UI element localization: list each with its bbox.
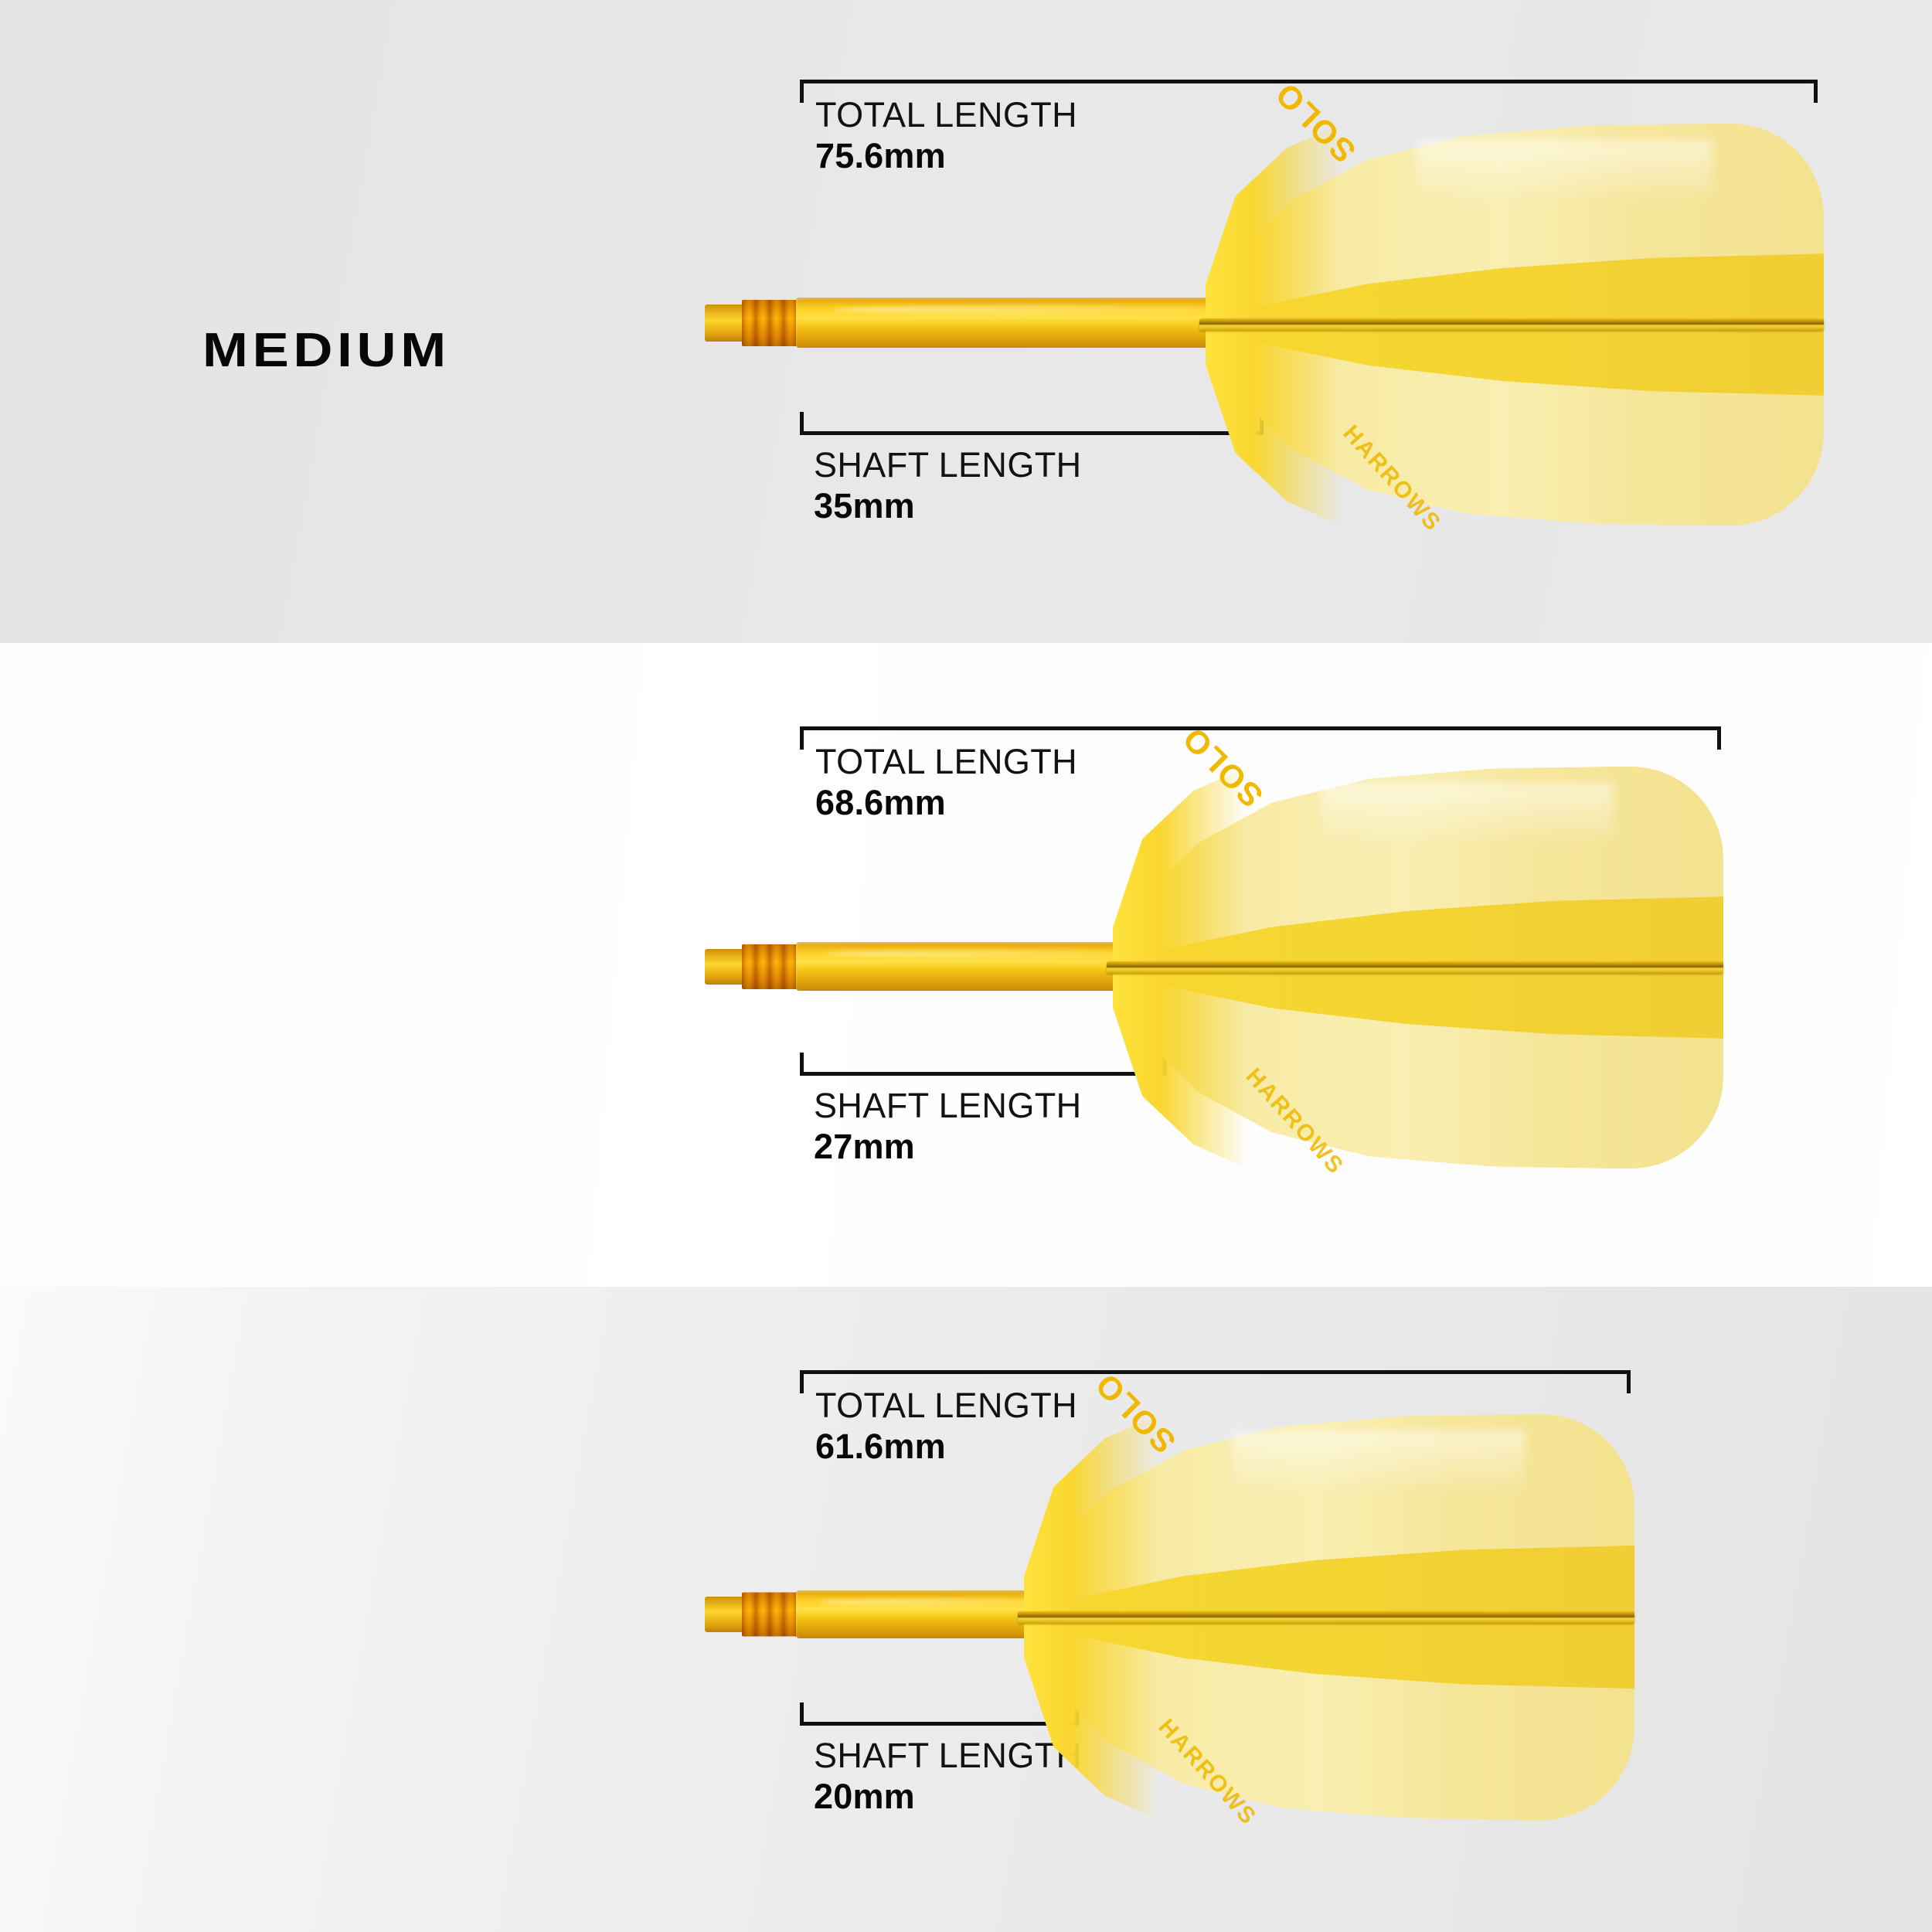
bracket-rule <box>800 80 1818 83</box>
flight-lower-lobe <box>1113 968 1723 1168</box>
bracket-tick-right <box>1814 80 1818 103</box>
bracket-tick-left <box>800 412 804 435</box>
flight-lower-lobe <box>1024 1617 1634 1821</box>
shaft-threaded-tip <box>742 1593 801 1637</box>
dart-flight-midi: SOLO HARROWS <box>1113 767 1723 1168</box>
total-length-text-midi: TOTAL LENGTH 68.6mm <box>815 743 1077 825</box>
variant-panel-midi: MIDI TOTAL LENGTH 68.6mm SHAFT LENGTH 27… <box>0 643 1932 1287</box>
bracket-tick-left <box>800 1702 804 1726</box>
variant-name-medium: MEDIUM <box>202 323 451 378</box>
total-length-value: 75.6mm <box>815 134 1077 179</box>
bracket-tick-right <box>1717 726 1721 750</box>
flight-upper-lobe <box>1206 124 1824 325</box>
dart-flight-short: SOLO HARROWS <box>1024 1414 1634 1820</box>
flight-upper-lobe <box>1113 767 1723 968</box>
flight-upper-lobe <box>1024 1414 1634 1617</box>
shaft-length-bracket-midi <box>800 1053 1166 1076</box>
shaft-end-nub <box>705 304 747 342</box>
bracket-tick-left <box>800 1053 804 1076</box>
shaft-length-caption: SHAFT LENGTH <box>814 447 1082 484</box>
bracket-tick-right <box>1627 1370 1631 1393</box>
bracket-rule <box>800 1370 1631 1374</box>
total-length-text-medium: TOTAL LENGTH 75.6mm <box>815 97 1077 179</box>
flight-center-seam <box>1199 318 1824 331</box>
comparison-sheet: MEDIUM TOTAL LENGTH 75.6mm SHAFT LENGTH … <box>0 0 1932 1932</box>
bracket-tick-left <box>800 1370 804 1393</box>
bracket-rule <box>800 726 1721 730</box>
total-length-caption: TOTAL LENGTH <box>815 743 1077 781</box>
shaft-threaded-tip <box>742 300 801 346</box>
flight-lower-lobe <box>1206 325 1824 526</box>
bracket-tick-left <box>800 726 804 750</box>
flight-center-seam <box>1018 1611 1634 1624</box>
bracket-rule <box>800 431 1264 435</box>
shaft-end-nub <box>705 949 747 985</box>
shaft-length-caption: SHAFT LENGTH <box>814 1087 1082 1124</box>
dart-flight-medium: SOLO HARROWS <box>1206 124 1824 526</box>
variant-panel-short: SHORT TOTAL LENGTH 61.6mm SHAFT LENGTH 2… <box>0 1287 1932 1932</box>
shaft-end-nub <box>705 1597 747 1632</box>
shaft-length-value: 35mm <box>814 484 1082 529</box>
shaft-length-value: 27mm <box>814 1124 1082 1170</box>
flight-center-seam <box>1107 961 1723 974</box>
variant-panel-medium: MEDIUM TOTAL LENGTH 75.6mm SHAFT LENGTH … <box>0 0 1932 643</box>
total-length-value: 68.6mm <box>815 781 1077 826</box>
shaft-length-text-medium: SHAFT LENGTH 35mm <box>814 447 1082 529</box>
bracket-rule <box>800 1072 1166 1076</box>
shaft-length-bracket-medium <box>800 412 1264 435</box>
total-length-caption: TOTAL LENGTH <box>815 97 1077 134</box>
bracket-tick-left <box>800 80 804 103</box>
shaft-length-text-midi: SHAFT LENGTH 27mm <box>814 1087 1082 1169</box>
shaft-threaded-tip <box>742 944 801 989</box>
